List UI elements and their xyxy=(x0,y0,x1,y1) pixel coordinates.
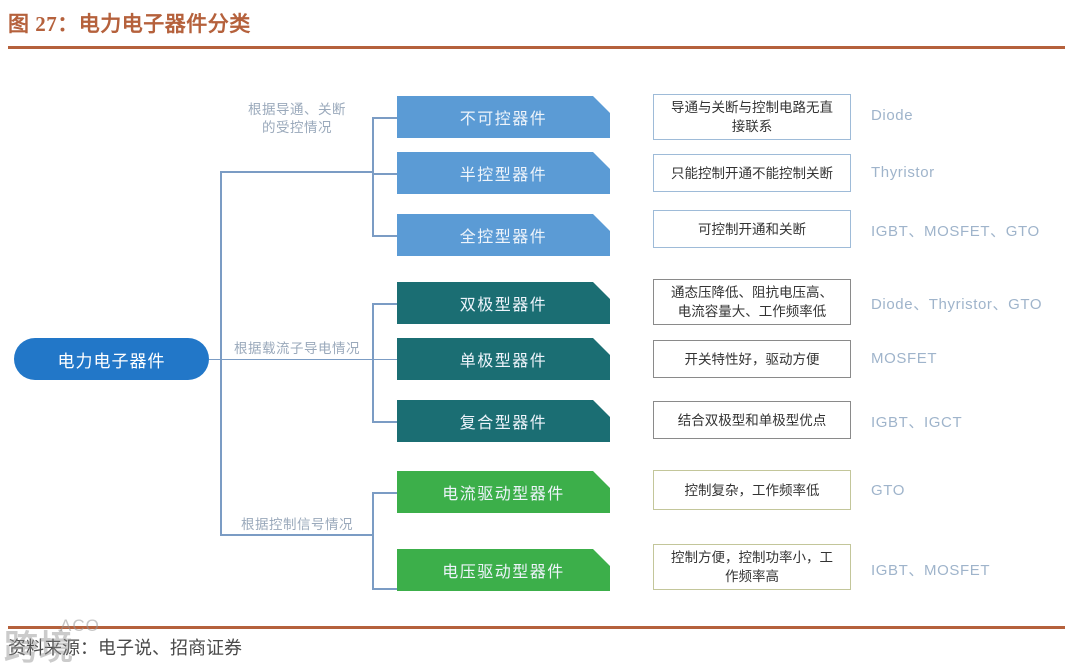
device-tag-3-2: IGBT、MOSFET xyxy=(871,559,990,580)
description-box-3-2: 控制方便，控制功率小，工 作频率高 xyxy=(653,544,851,590)
diagram-canvas: 电力电子器件 根据导通、关断 的受控情况 不可控器件 半控型器件 全控型器件 导… xyxy=(0,55,1073,620)
category-node-1-3[interactable]: 全控型器件 xyxy=(397,214,610,256)
description-box-3-1: 控制复杂，工作频率低 xyxy=(653,470,851,510)
device-tag-2-1: Diode、Thyristor、GTO xyxy=(871,293,1042,314)
category-node-2-3[interactable]: 复合型器件 xyxy=(397,400,610,442)
description-box-1-3: 可控制开通和关断 xyxy=(653,210,851,248)
title-divider xyxy=(8,46,1065,49)
branch3-stub-1 xyxy=(372,492,398,494)
branch1-stub-3 xyxy=(372,235,398,237)
branch1-stub-2 xyxy=(372,173,398,175)
description-box-2-1: 通态压降低、阻抗电压高、 电流容量大、工作频率低 xyxy=(653,279,851,325)
branch-label-2: 根据载流子导电情况 xyxy=(222,340,372,358)
branch2-stub-1 xyxy=(372,303,398,305)
device-tag-1-3: IGBT、MOSFET、GTO xyxy=(871,220,1040,241)
branch2-stub-3 xyxy=(372,421,398,423)
page-title: 图 27：电力电子器件分类 xyxy=(8,8,251,38)
device-tag-2-3: IGBT、IGCT xyxy=(871,411,962,432)
description-box-1-1: 导通与关断与控制电路无直 接联系 xyxy=(653,94,851,140)
description-box-1-2: 只能控制开通不能控制关断 xyxy=(653,154,851,192)
branch-label-3: 根据控制信号情况 xyxy=(222,516,372,534)
device-tag-1-1: Diode xyxy=(871,107,913,124)
branch2-connector xyxy=(220,359,372,361)
branch2-bracket xyxy=(372,303,374,421)
category-node-3-2[interactable]: 电压驱动型器件 xyxy=(397,549,610,591)
description-box-2-2: 开关特性好，驱动方便 xyxy=(653,340,851,378)
category-node-1-2[interactable]: 半控型器件 xyxy=(397,152,610,194)
category-node-2-2[interactable]: 单极型器件 xyxy=(397,338,610,380)
root-node[interactable]: 电力电子器件 xyxy=(14,338,209,380)
branch2-stub-2 xyxy=(372,359,398,361)
branch1-bracket xyxy=(372,117,374,235)
category-node-3-1[interactable]: 电流驱动型器件 xyxy=(397,471,610,513)
figure-page: 图 27：电力电子器件分类 电力电子器件 根据导通、关断 的受控情况 不可控器件… xyxy=(0,0,1073,671)
watermark-text: 跨境 xyxy=(4,620,74,669)
branch3-connector xyxy=(220,534,372,536)
description-box-2-3: 结合双极型和单极型优点 xyxy=(653,401,851,439)
category-node-1-1[interactable]: 不可控器件 xyxy=(397,96,610,138)
branch1-stub-1 xyxy=(372,117,398,119)
branch1-connector xyxy=(220,171,372,173)
category-node-2-1[interactable]: 双极型器件 xyxy=(397,282,610,324)
branch3-bracket xyxy=(372,492,374,588)
branch-label-1: 根据导通、关断 的受控情况 xyxy=(222,101,372,137)
device-tag-3-1: GTO xyxy=(871,482,905,499)
branch3-stub-2 xyxy=(372,588,398,590)
device-tag-1-2: Thyristor xyxy=(871,164,935,181)
footer-divider xyxy=(8,626,1065,629)
device-tag-2-2: MOSFET xyxy=(871,350,937,367)
